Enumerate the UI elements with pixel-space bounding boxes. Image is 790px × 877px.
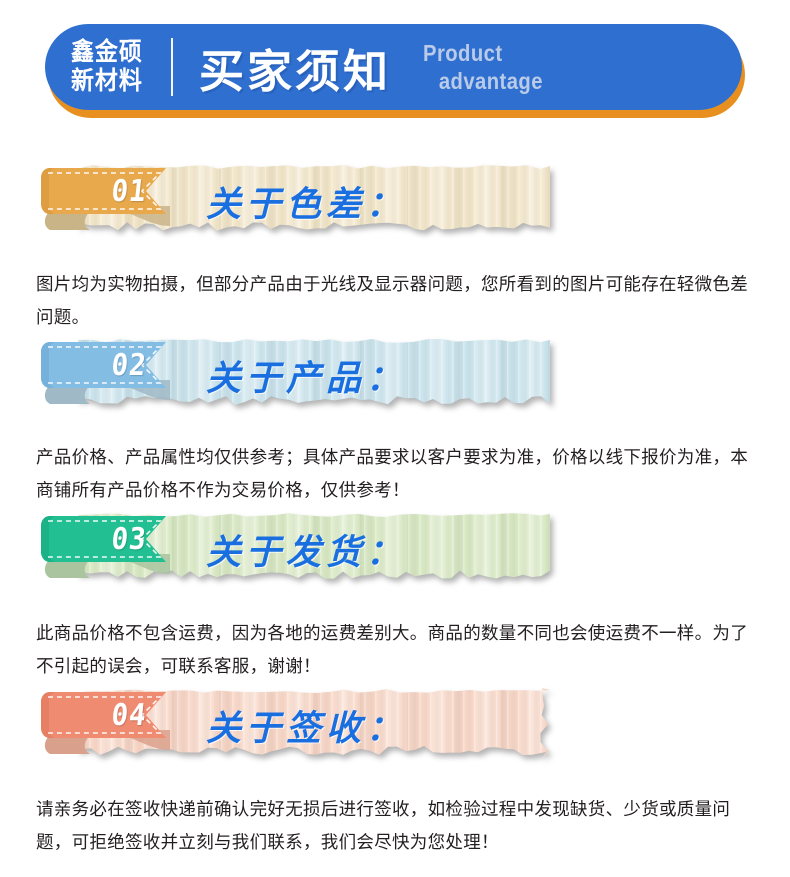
brand-logo: 鑫金硕 新材料 bbox=[71, 38, 149, 96]
brand-logo-line2: 新材料 bbox=[71, 67, 143, 96]
header-divider bbox=[171, 38, 173, 96]
notice-section-04: 04 关于签收： bbox=[0, 684, 790, 772]
header-subtitle: Product advantage bbox=[423, 39, 543, 95]
section-body-text: 图片均为实物拍摄，但部分产品由于光线及显示器问题，您所看到的图片可能存在轻微色差… bbox=[36, 268, 758, 334]
section-number: 02 bbox=[97, 348, 161, 383]
product-notice-page: 鑫金硕 新材料 买家须知 Product advantage bbox=[0, 0, 790, 877]
section-number: 04 bbox=[97, 698, 161, 733]
section-number: 03 bbox=[97, 522, 161, 557]
header-subtitle-line1: Product bbox=[423, 39, 543, 67]
section-body-text: 产品价格、产品属性均仅供参考；具体产品要求以客户要求为准，价格以线下报价为准，本… bbox=[36, 441, 758, 507]
header-bar: 鑫金硕 新材料 买家须知 Product advantage bbox=[45, 24, 742, 110]
notice-section-03: 03 关于发货： bbox=[0, 508, 790, 596]
section-banner: 03 关于发货： bbox=[38, 508, 550, 596]
section-body-text: 请亲务必在签收快递前确认完好无损后进行签收，如检验过程中发现缺货、少货或质量问题… bbox=[36, 793, 758, 859]
notice-section-01: 01 关于色差： bbox=[0, 160, 790, 248]
section-heading: 关于签收： bbox=[206, 700, 406, 751]
page-header: 鑫金硕 新材料 买家须知 Product advantage bbox=[45, 24, 745, 118]
section-body-text: 此商品价格不包含运费，因为各地的运费差别大。商品的数量不同也会使运费不一样。为了… bbox=[36, 617, 758, 683]
section-heading: 关于色差： bbox=[206, 176, 406, 227]
notice-section-02: 02 关于产品： bbox=[0, 334, 790, 422]
header-subtitle-line2: advantage bbox=[423, 67, 543, 95]
page-title: 买家须知 bbox=[199, 35, 391, 100]
section-number: 01 bbox=[97, 174, 161, 209]
section-banner: 02 关于产品： bbox=[38, 334, 550, 422]
section-banner: 01 关于色差： bbox=[38, 160, 550, 248]
brand-logo-line1: 鑫金硕 bbox=[71, 38, 143, 67]
section-banner: 04 关于签收： bbox=[38, 684, 550, 772]
section-heading: 关于发货： bbox=[206, 524, 406, 575]
section-heading: 关于产品： bbox=[206, 350, 406, 401]
